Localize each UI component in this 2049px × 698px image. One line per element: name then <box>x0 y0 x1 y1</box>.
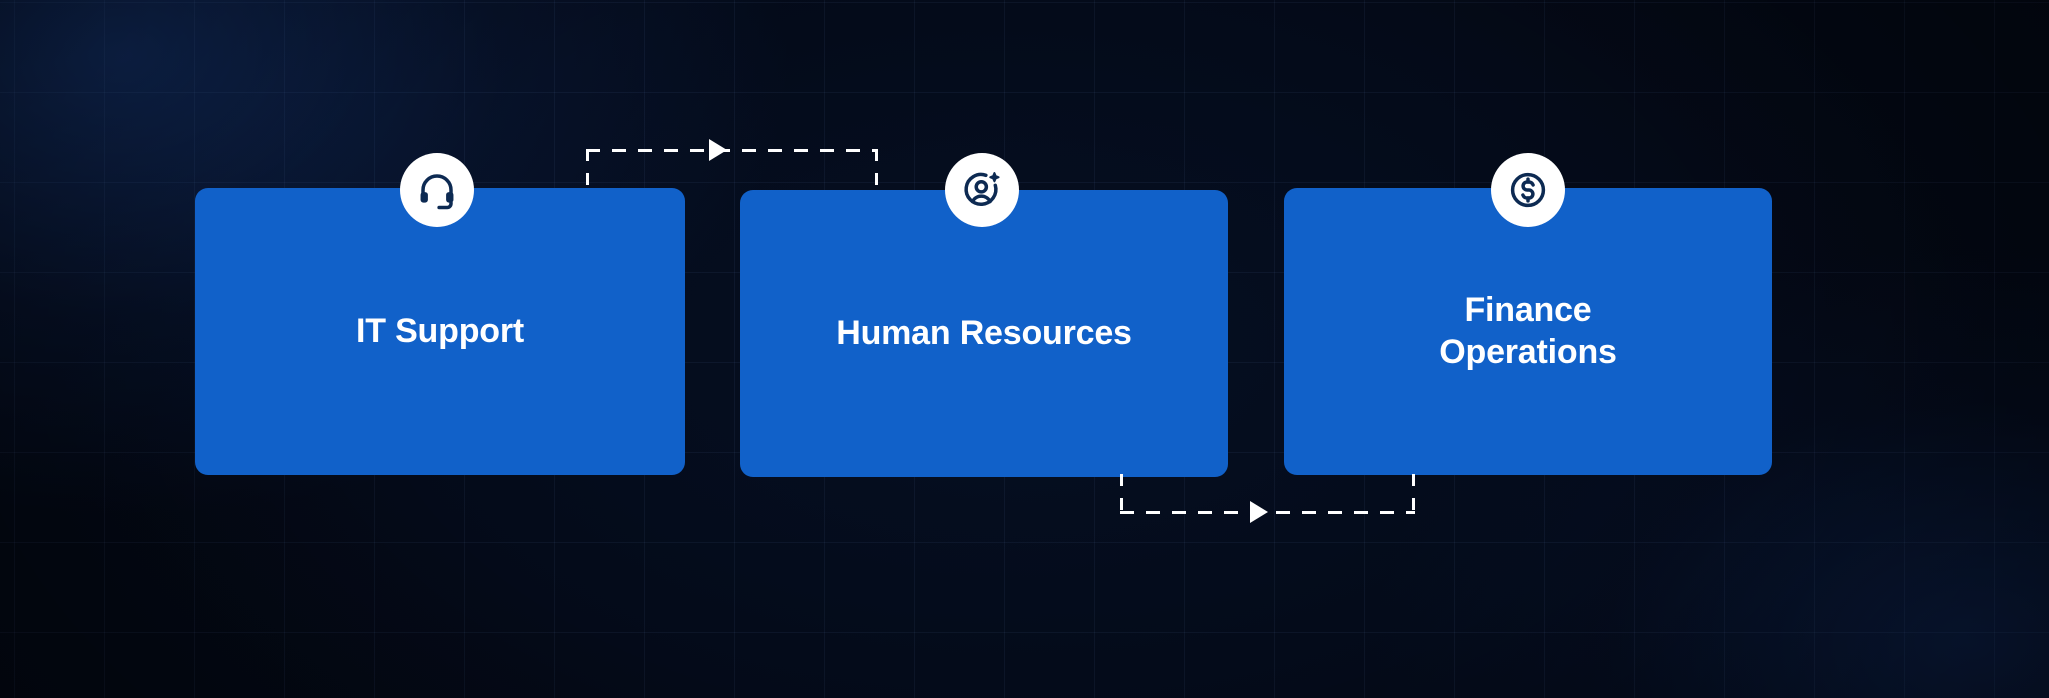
connector-arrowhead <box>1250 501 1268 523</box>
card-finance-operations[interactable]: Finance Operations <box>1284 188 1772 475</box>
badge-finance-operations[interactable] <box>1491 153 1565 227</box>
badge-it-support[interactable] <box>400 153 474 227</box>
connector-stub-right <box>875 149 878 191</box>
card-human-resources[interactable]: Human Resources <box>740 190 1228 477</box>
diagram-canvas: IT Support Human Resources Finance Opera <box>0 0 2049 698</box>
user-circle-sparkle-icon <box>961 169 1003 211</box>
card-it-support[interactable]: IT Support <box>195 188 685 475</box>
connector-rail-horizontal <box>586 149 878 152</box>
connector-stub-left <box>1120 474 1123 514</box>
headset-icon <box>416 169 458 211</box>
connector-arrowhead <box>709 139 727 161</box>
card-title-it-support: IT Support <box>356 311 524 352</box>
badge-human-resources[interactable] <box>945 153 1019 227</box>
card-title-human-resources: Human Resources <box>836 313 1132 354</box>
connector-stub-right <box>1412 474 1415 514</box>
connector-stub-left <box>586 149 589 191</box>
dollar-coin-icon <box>1507 169 1549 211</box>
card-title-finance-operations: Finance Operations <box>1439 290 1616 373</box>
